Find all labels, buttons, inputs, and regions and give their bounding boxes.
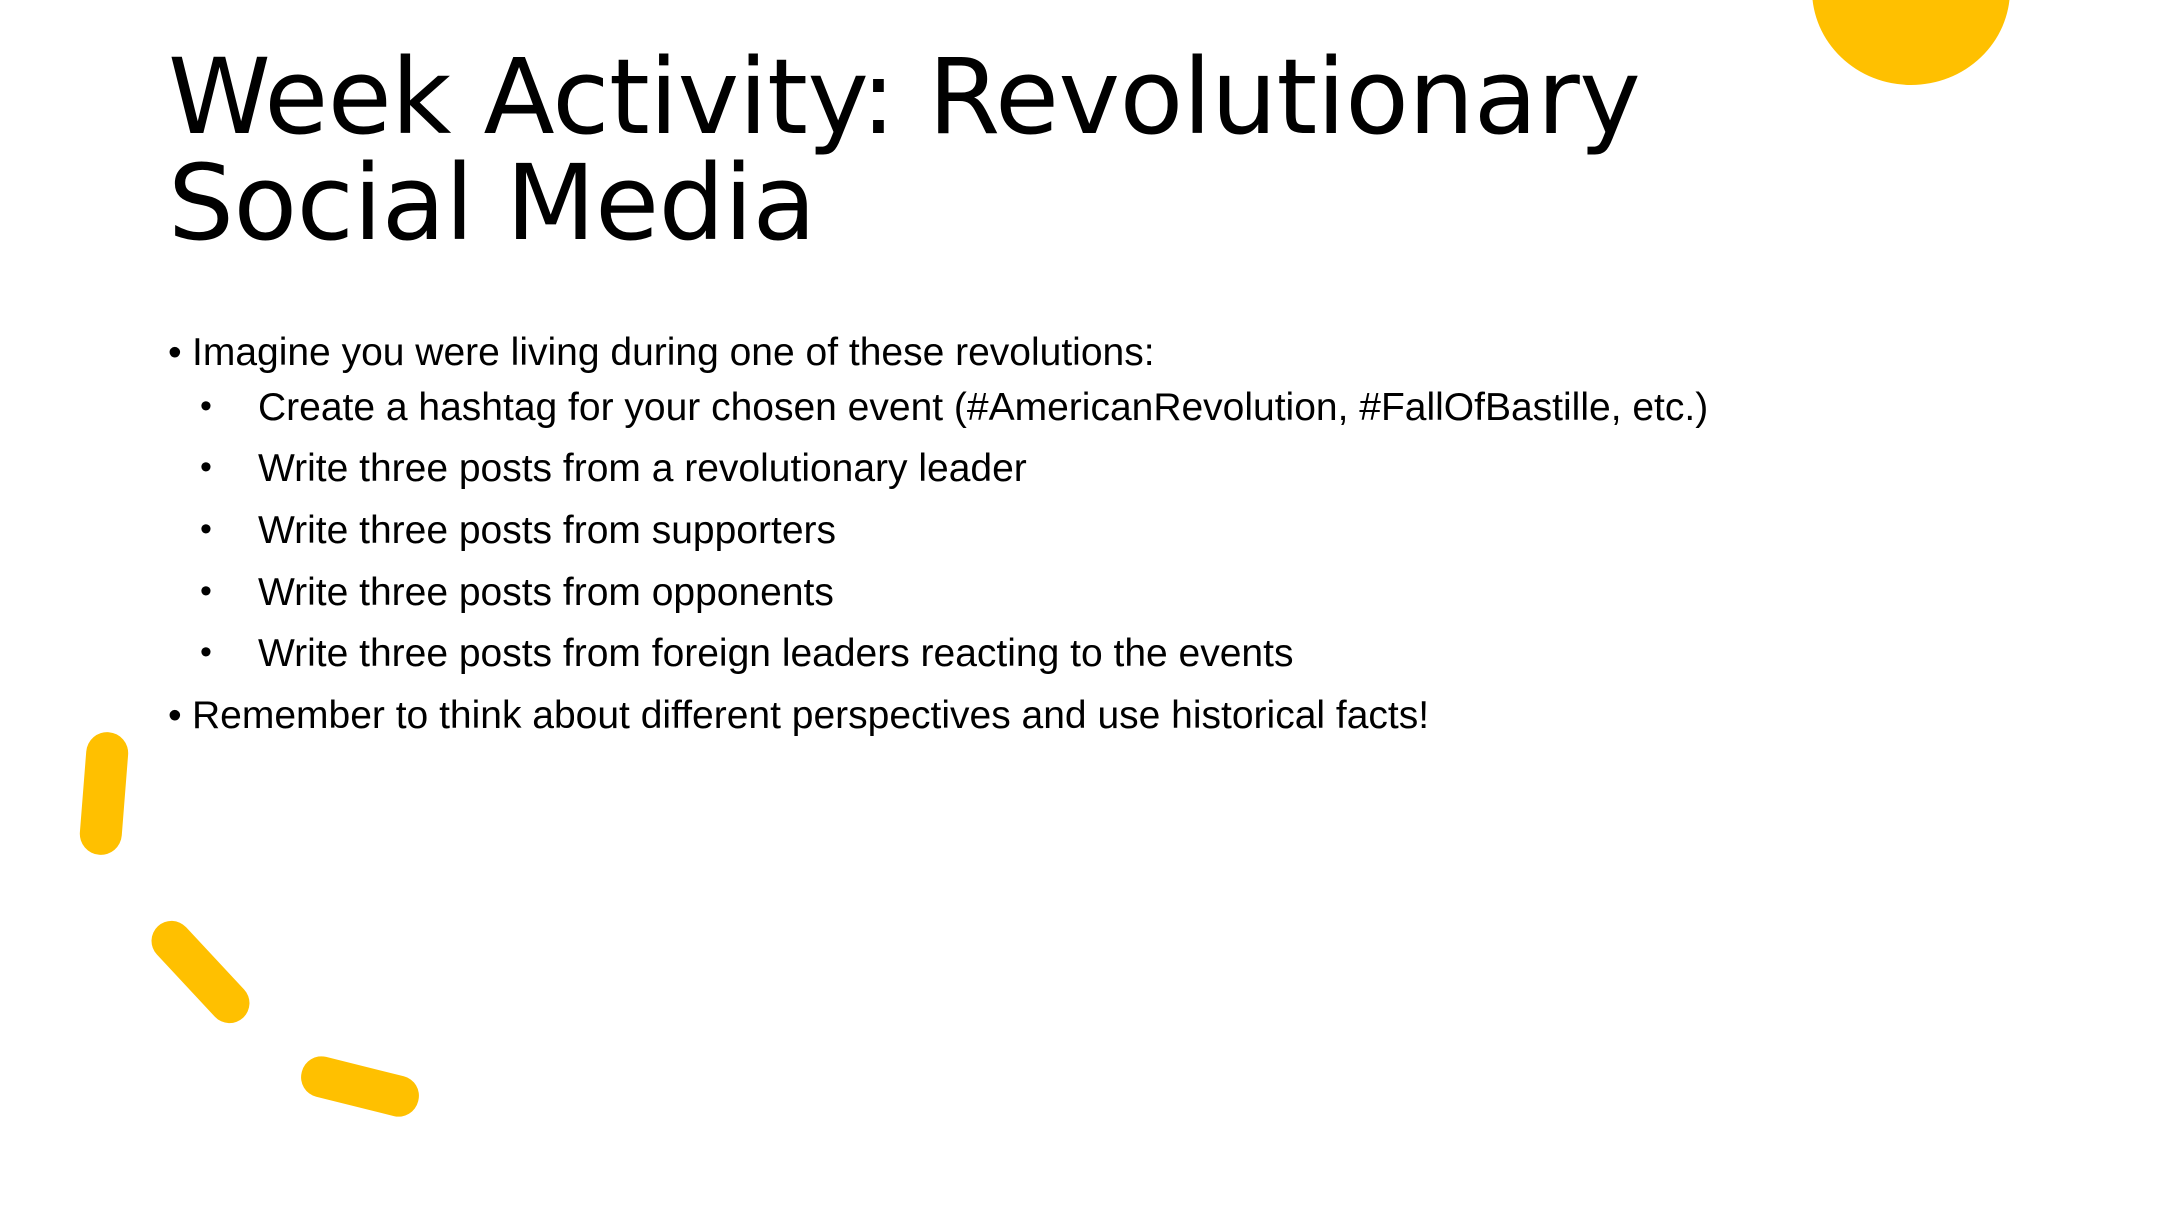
bullet-closing: • Remember to think about different pers… (168, 691, 2028, 742)
bullet-intro: • Imagine you were living during one of … (168, 328, 2028, 379)
bullet-intro-text: Imagine you were living during one of th… (192, 331, 1155, 374)
bullet-marker-icon: • (200, 629, 212, 676)
bullet-marker-icon: • (200, 383, 212, 430)
list-item-text: Write three posts from opponents (258, 571, 834, 614)
slide-canvas: Week Activity: Revolutionary Social Medi… (0, 0, 2160, 1215)
bullet-marker-icon: • (168, 328, 182, 379)
list-item-text: Write three posts from a revolutionary l… (258, 447, 1027, 490)
slide-body: • Imagine you were living during one of … (168, 328, 2028, 746)
list-item: • Create a hashtag for your chosen event… (168, 383, 2028, 434)
list-item: • Write three posts from foreign leaders… (168, 629, 2028, 680)
list-item: • Write three posts from opponents (168, 568, 2028, 619)
decorative-horizontal-stroke-icon (297, 1052, 423, 1121)
bullet-marker-icon: • (200, 506, 212, 553)
bullet-marker-icon: • (168, 691, 182, 742)
slide-title: Week Activity: Revolutionary Social Medi… (168, 44, 1968, 256)
list-item-text: Write three posts from supporters (258, 509, 836, 552)
list-item-text: Create a hashtag for your chosen event (… (258, 386, 1708, 429)
list-item: • Write three posts from supporters (168, 506, 2028, 557)
list-item: • Write three posts from a revolutionary… (168, 444, 2028, 495)
bullet-marker-icon: • (200, 568, 212, 615)
decorative-diagonal-stroke-icon (143, 913, 258, 1032)
bullet-closing-text: Remember to think about different perspe… (192, 694, 1429, 737)
decorative-vertical-stroke-icon (78, 731, 130, 857)
list-item-text: Write three posts from foreign leaders r… (258, 632, 1293, 675)
task-list: • Create a hashtag for your chosen event… (168, 383, 2028, 680)
bullet-marker-icon: • (200, 444, 212, 491)
